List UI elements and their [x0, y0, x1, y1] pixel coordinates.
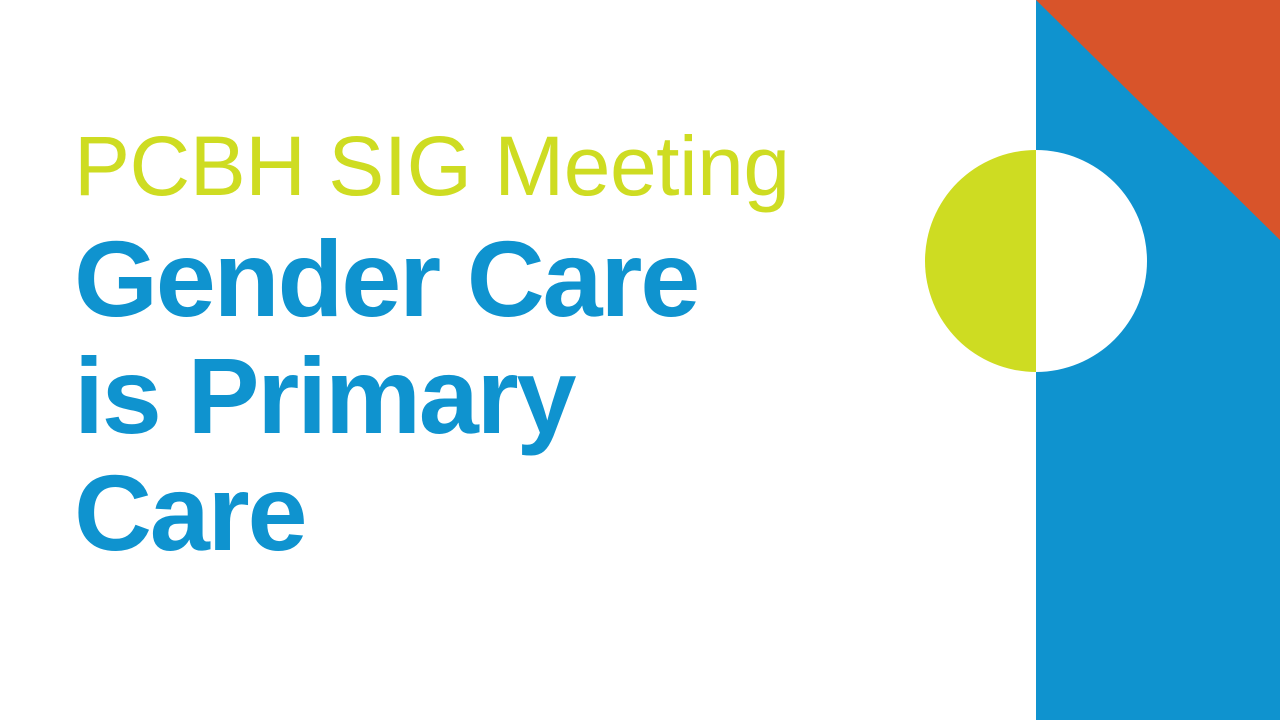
eyebrow-label: PCBH SIG Meeting [74, 124, 934, 210]
page-title: Gender Care is Primary Care [74, 210, 934, 572]
headline-line-3: Care [74, 454, 934, 571]
headline-line-2: is Primary [74, 337, 934, 454]
slide-canvas: PCBH SIG Meeting Gender Care is Primary … [0, 0, 1280, 720]
decorative-graphic-panel [1036, 0, 1280, 720]
title-block: PCBH SIG Meeting Gender Care is Primary … [74, 124, 934, 571]
split-circle-lime-half [925, 150, 1036, 372]
headline-line-1: Gender Care [74, 220, 934, 337]
split-circle-white-half [1036, 150, 1147, 372]
